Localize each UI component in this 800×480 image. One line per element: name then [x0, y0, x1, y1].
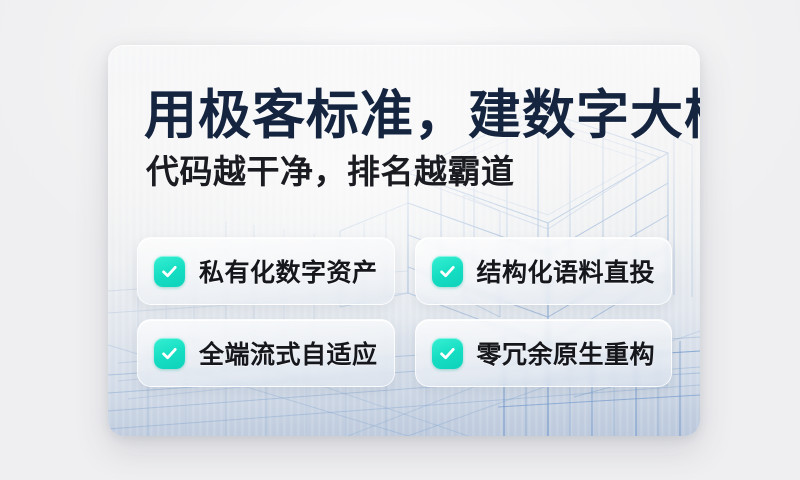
check-icon	[154, 338, 185, 369]
hero-panel: 用极客标准，建数字大楼 代码越干净，排名越霸道 私有化数字资产 结构化语料直投	[108, 45, 700, 436]
poster-stage: 用极客标准，建数字大楼 代码越干净，排名越霸道 私有化数字资产 结构化语料直投	[0, 0, 800, 480]
feature-card-2[interactable]: 结构化语料直投	[415, 237, 673, 305]
feature-card-1[interactable]: 私有化数字资产	[137, 237, 395, 305]
page-title: 用极客标准，建数字大楼	[144, 89, 700, 142]
check-icon	[432, 256, 463, 287]
feature-label: 零冗余原生重构	[477, 335, 656, 371]
panel-gloss-highlight	[108, 45, 700, 248]
feature-label: 私有化数字资产	[199, 253, 378, 289]
feature-label: 结构化语料直投	[477, 253, 656, 289]
feature-card-3[interactable]: 全端流式自适应	[137, 319, 395, 387]
check-icon	[432, 338, 463, 369]
feature-card-4[interactable]: 零冗余原生重构	[415, 319, 673, 387]
feature-grid: 私有化数字资产 结构化语料直投 全端流式自适应	[137, 237, 671, 387]
page-subtitle: 代码越干净，排名越霸道	[146, 155, 515, 188]
feature-label: 全端流式自适应	[199, 335, 378, 371]
check-icon	[154, 256, 185, 287]
